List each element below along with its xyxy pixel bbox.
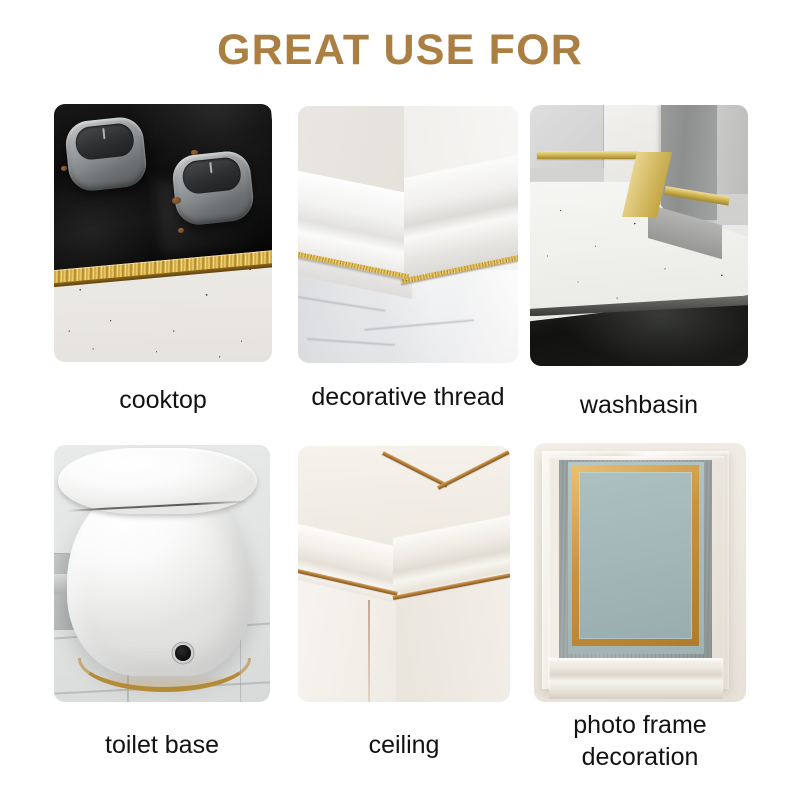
gallery-image-decorative-thread[interactable] — [298, 106, 518, 363]
caption-cooktop: cooktop — [54, 384, 272, 416]
caption-toilet-base: toilet base — [54, 729, 270, 761]
baseboard-scene — [298, 106, 518, 363]
frame-sill — [549, 658, 723, 693]
wall-joint-line — [368, 600, 370, 702]
gallery-image-ceiling[interactable] — [298, 446, 510, 702]
burner-knob-left — [64, 116, 149, 193]
frame-sill-lip — [549, 690, 723, 699]
gold-inner-trim — [572, 465, 699, 646]
gallery-image-toilet-base[interactable] — [54, 445, 270, 702]
page-title: GREAT USE FOR — [0, 26, 800, 75]
marble-vein — [298, 294, 386, 311]
toilet-side-hole — [175, 645, 191, 660]
gallery-image-washbasin[interactable] — [530, 105, 748, 366]
ceiling-scene — [298, 446, 510, 702]
cooktop-scene — [54, 104, 272, 362]
gallery-image-photo-frame[interactable] — [534, 443, 746, 702]
marble-vein — [307, 338, 395, 346]
wall-panel-right — [717, 105, 748, 194]
gold-caulk-seam-back — [537, 151, 639, 159]
gallery-image-cooktop[interactable] — [54, 104, 272, 362]
caption-washbasin: washbasin — [530, 389, 748, 421]
product-infographic: GREAT USE FOR — [0, 0, 800, 800]
photo-frame-scene — [534, 443, 746, 702]
caption-ceiling: ceiling — [298, 729, 510, 761]
toilet-scene — [54, 445, 270, 702]
crumb — [61, 166, 67, 171]
burner-knob-right — [170, 149, 255, 226]
caption-decorative-thread: decorative thread — [278, 381, 538, 413]
washbasin-scene — [530, 105, 748, 366]
marble-vein — [364, 319, 474, 330]
crumb — [172, 197, 181, 204]
caption-photo-frame-decoration: photo frame decoration — [524, 709, 756, 773]
